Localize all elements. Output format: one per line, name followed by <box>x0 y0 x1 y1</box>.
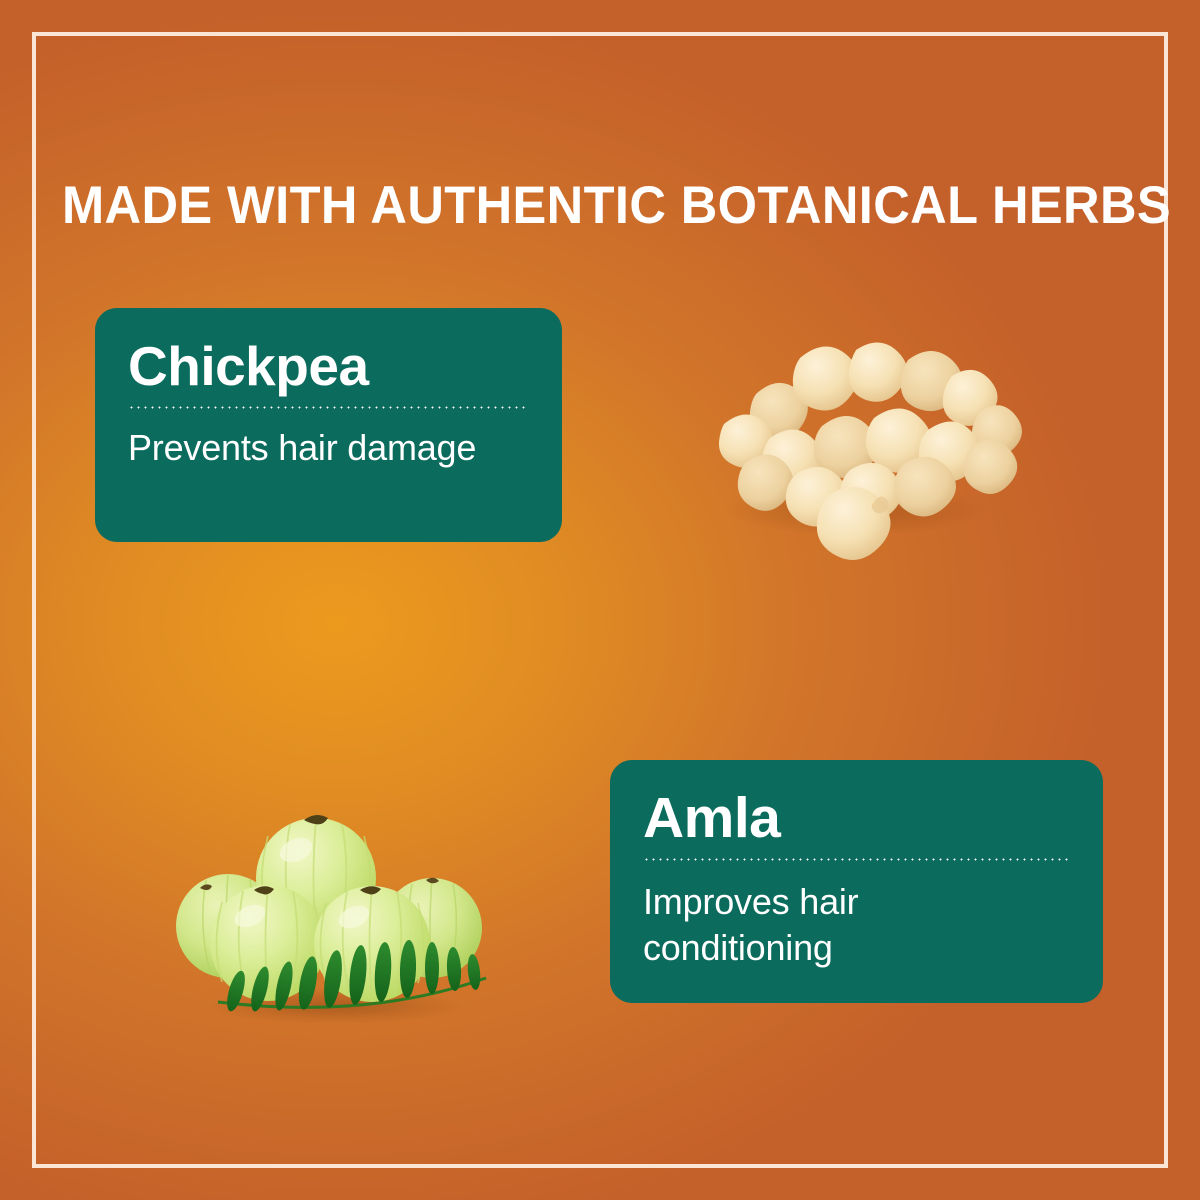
card-content: Chickpea Prevents hair damage <box>128 336 529 471</box>
ingredient-name: Chickpea <box>128 336 529 396</box>
ingredient-card-chickpea: Chickpea Prevents hair damage <box>95 308 562 542</box>
ingredient-benefit: Improves hair conditioning <box>643 861 1070 971</box>
page-title: MADE WITH AUTHENTIC BOTANICAL HERBS <box>62 176 1103 236</box>
ingredient-card-amla: Amla Improves hair conditioning <box>610 760 1103 1003</box>
ingredient-name: Amla <box>643 788 1070 848</box>
card-content: Amla Improves hair conditioning <box>643 788 1070 971</box>
amla-photo <box>140 778 520 1030</box>
chickpea-photo <box>660 298 1040 560</box>
infographic-canvas: MADE WITH AUTHENTIC BOTANICAL HERBS <box>0 0 1200 1200</box>
ingredient-benefit: Prevents hair damage <box>128 409 529 471</box>
